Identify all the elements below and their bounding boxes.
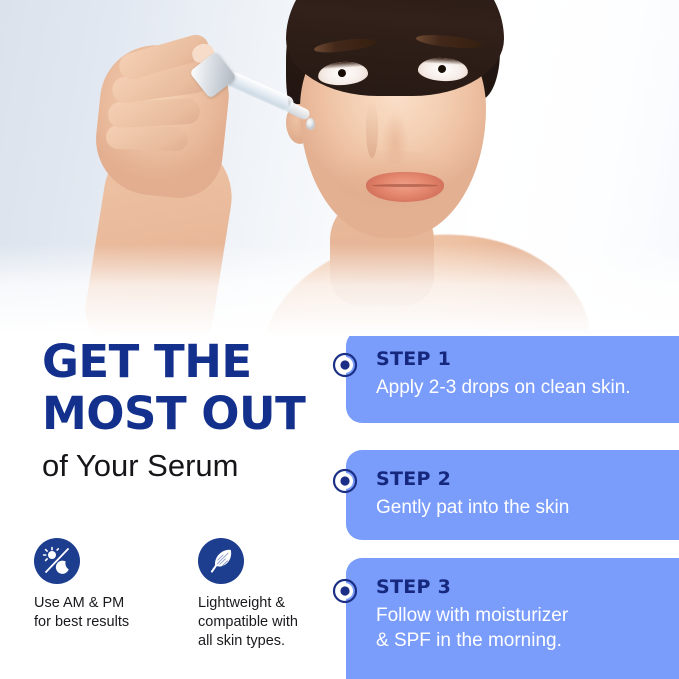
step-card-2[interactable]: STEP 2 Gently pat into the skin <box>346 450 679 540</box>
radio-bullet-icon <box>332 352 358 378</box>
step-title: STEP 1 <box>376 348 679 370</box>
radio-bullet-icon <box>332 578 358 604</box>
step-card-3[interactable]: STEP 3 Follow with moisturizer & SPF in … <box>346 558 679 679</box>
hero-bottom-fade <box>0 244 679 336</box>
step-title: STEP 3 <box>376 576 679 598</box>
infographic-page: GET THE MOST OUT of Your Serum <box>0 0 679 679</box>
step-card-1[interactable]: STEP 1 Apply 2-3 drops on clean skin. <box>346 330 679 423</box>
step-description: Follow with moisturizer & SPF in the mor… <box>376 603 679 653</box>
step-description: Apply 2-3 drops on clean skin. <box>376 375 679 400</box>
radio-bullet-icon <box>332 468 358 494</box>
steps-list: STEP 1 Apply 2-3 drops on clean skin. ST… <box>0 0 679 679</box>
step-description: Gently pat into the skin <box>376 495 679 520</box>
step-title: STEP 2 <box>376 468 679 490</box>
